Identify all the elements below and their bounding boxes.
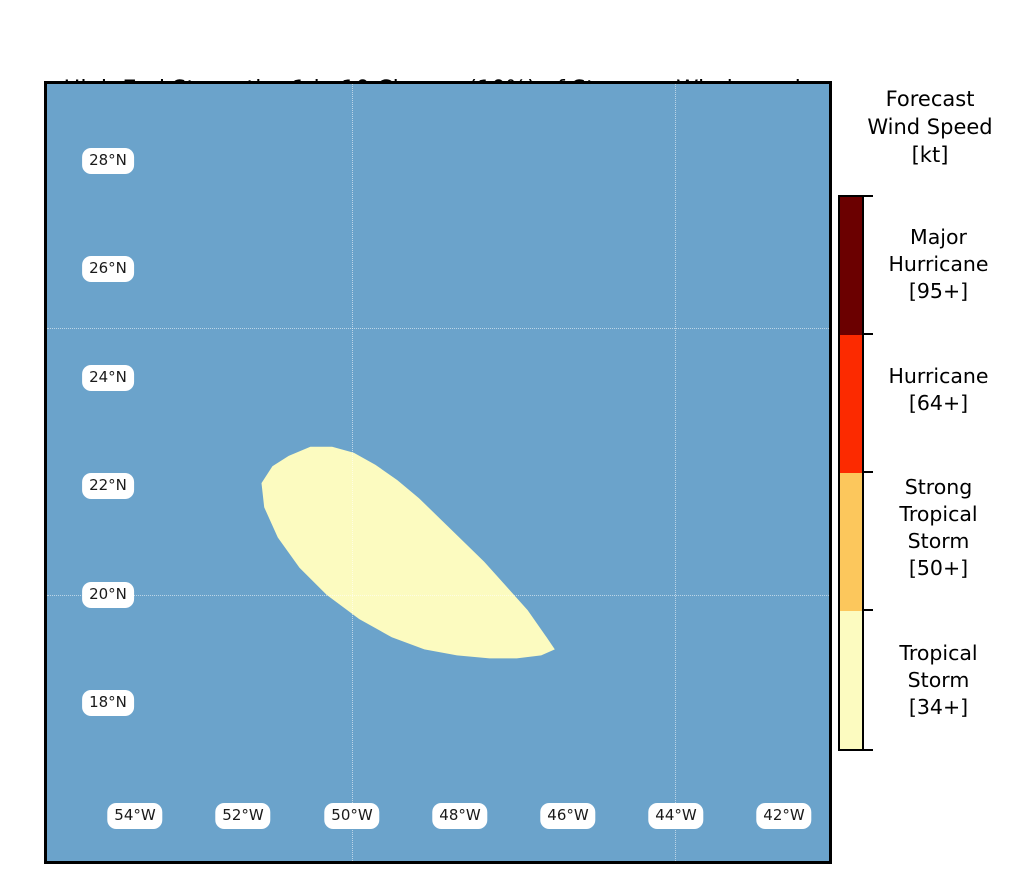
colorbar-label-tropical-storm-line-2: Storm — [862, 667, 1015, 694]
lon-label-48w: 48°W — [432, 803, 487, 829]
lon-label-50w: 50°W — [324, 803, 379, 829]
colorbar-label-tropical-storm: Tropical Storm [34+] — [862, 640, 1015, 721]
colorbar-label-major-hurricane: Major Hurricane [95+] — [862, 224, 1015, 305]
colorbar-label-hurricane-line-1: Hurricane — [862, 363, 1015, 390]
lat-label-26n: 26°N — [82, 256, 134, 282]
lon-label-52w: 52°W — [215, 803, 270, 829]
colorbar-segment-strong-tropical-storm — [840, 473, 862, 611]
lon-label-42w: 42°W — [756, 803, 811, 829]
colorbar-label-major-hurricane-line-2: Hurricane — [862, 251, 1015, 278]
map-canvas — [47, 84, 829, 861]
colorbar-segment-tropical-storm — [840, 611, 862, 751]
colorbar-label-major-hurricane-line-3: [95+] — [862, 278, 1015, 305]
colorbar-label-tropical-storm-line-3: [34+] — [862, 694, 1015, 721]
colorbar-tick-64 — [864, 471, 873, 473]
colorbar-label-hurricane-line-2: [64+] — [862, 390, 1015, 417]
colorbar-label-strong-tropical-storm: Strong Tropical Storm [50+] — [862, 474, 1015, 582]
colorbar-tick-50 — [864, 609, 873, 611]
colorbar-label-strong-tropical-storm-line-3: Storm — [862, 528, 1015, 555]
gridline-lat-20n — [47, 595, 829, 596]
gridline-lon-44w — [675, 84, 676, 861]
colorbar-tick-top — [864, 195, 873, 197]
forecast-map[interactable]: 28°N 26°N 24°N 22°N 20°N 18°N 54°W 52°W … — [44, 81, 832, 864]
lat-label-18n: 18°N — [82, 690, 134, 716]
colorbar-bar — [838, 195, 864, 751]
lat-label-20n: 20°N — [82, 582, 134, 608]
colorbar-title-line-1: Forecast — [845, 85, 1015, 113]
colorbar-label-strong-tropical-storm-line-1: Strong — [862, 474, 1015, 501]
colorbar-title: Forecast Wind Speed [kt] — [845, 85, 1015, 169]
colorbar-title-line-3: [kt] — [845, 141, 1015, 169]
lon-label-46w: 46°W — [540, 803, 595, 829]
gridline-lat-26n — [47, 328, 829, 329]
lon-label-44w: 44°W — [648, 803, 703, 829]
lat-label-22n: 22°N — [82, 473, 134, 499]
gridline-lon-50w — [352, 84, 353, 861]
colorbar-label-major-hurricane-line-1: Major — [862, 224, 1015, 251]
lat-label-24n: 24°N — [82, 365, 134, 391]
tropical-storm-forecast-area — [262, 447, 555, 659]
colorbar-label-strong-tropical-storm-line-2: Tropical — [862, 501, 1015, 528]
lon-label-54w: 54°W — [107, 803, 162, 829]
colorbar-tick-34 — [864, 749, 873, 751]
colorbar-label-strong-tropical-storm-line-4: [50+] — [862, 555, 1015, 582]
colorbar-label-hurricane: Hurricane [64+] — [862, 363, 1015, 417]
colorbar[interactable] — [838, 195, 864, 751]
colorbar-label-tropical-storm-line-1: Tropical — [862, 640, 1015, 667]
colorbar-tick-95 — [864, 333, 873, 335]
colorbar-segment-major-hurricane — [840, 197, 862, 335]
lat-label-28n: 28°N — [82, 148, 134, 174]
colorbar-title-line-2: Wind Speed — [845, 113, 1015, 141]
colorbar-segment-hurricane — [840, 335, 862, 473]
